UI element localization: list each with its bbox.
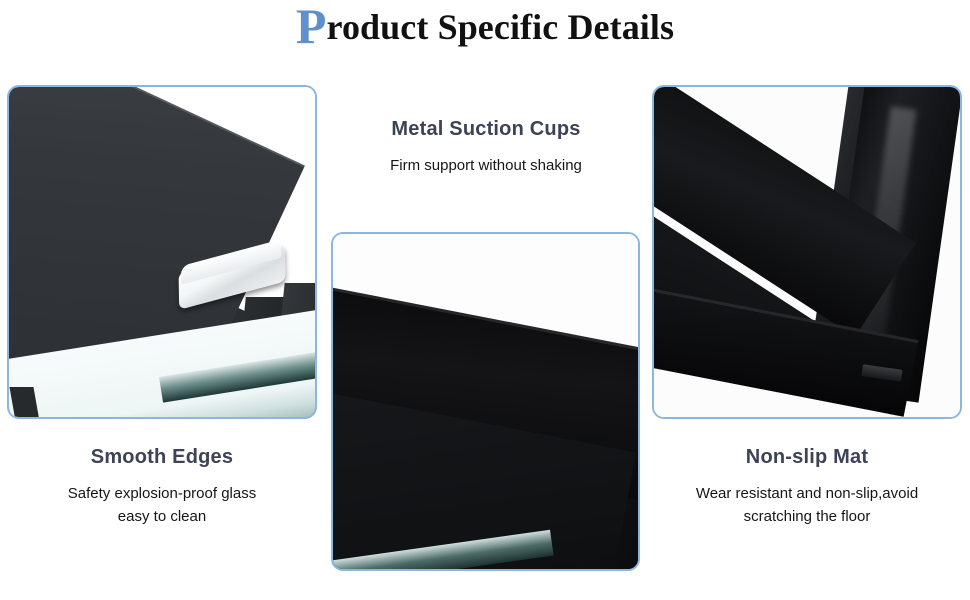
description-line-2: scratching the floor (652, 506, 962, 529)
feature-image-non-slip-mat (652, 85, 962, 419)
description-line-1: Safety explosion-proof glass (7, 483, 317, 506)
feature-heading-non-slip-mat: Non-slip Mat (652, 446, 962, 469)
photo-leg-frame (654, 87, 960, 417)
product-details-infographic: Product Specific Details (0, 0, 970, 600)
title-text: roduct Specific Details (327, 7, 675, 47)
feature-description-smooth-edges: Safety explosion-proof glass easy to cle… (7, 483, 317, 529)
description-line-1: Wear resistant and non-slip,avoid (652, 483, 962, 506)
photo-glass-corner (9, 87, 315, 417)
title-dropcap: P (296, 0, 327, 54)
feature-description-metal-suction-cups: Firm support without shaking (331, 155, 641, 178)
feature-caption-metal-suction-cups: Metal Suction Cups Firm support without … (331, 118, 641, 178)
feature-caption-non-slip-mat: Non-slip Mat Wear resistant and non-slip… (652, 446, 962, 529)
feature-description-non-slip-mat: Wear resistant and non-slip,avoid scratc… (652, 483, 962, 529)
description-line-1: Firm support without shaking (331, 155, 641, 178)
feature-caption-smooth-edges: Smooth Edges Safety explosion-proof glas… (7, 446, 317, 529)
feature-heading-metal-suction-cups: Metal Suction Cups (331, 118, 641, 141)
feature-image-smooth-edges (7, 85, 317, 419)
description-line-2: easy to clean (7, 506, 317, 529)
photo-suction-cup (333, 234, 638, 569)
feature-heading-smooth-edges: Smooth Edges (7, 446, 317, 469)
page-title: Product Specific Details (0, 6, 970, 48)
feature-image-metal-suction-cups (331, 232, 640, 571)
